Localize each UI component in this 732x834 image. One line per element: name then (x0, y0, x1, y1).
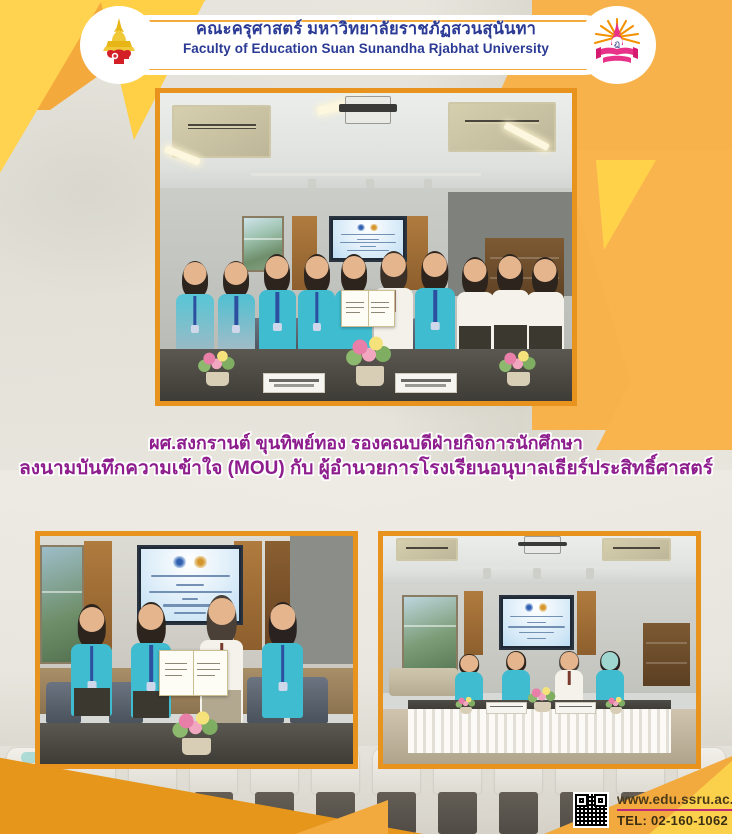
telephone-number: TEL: 02-160-1062 (617, 811, 732, 828)
header-text-block: คณะครุศาสตร์ มหาวิทยาลัยราชภัฏสวนสุนันทา… (136, 19, 596, 58)
header-title-thai: คณะครุศาสตร์ มหาวิทยาลัยราชภัฏสวนสุนันทา (136, 19, 596, 40)
caption-line-2: ลงนามบันทึกความเข้าใจ (MOU) กับ ผู้อำนวย… (19, 456, 713, 482)
header-title-english: Faculty of Education Suan Sunandha Rjabh… (136, 40, 596, 58)
photo-main (155, 88, 577, 406)
photo-bottom-right (378, 531, 701, 769)
qr-code-icon[interactable] (573, 792, 609, 828)
website-url[interactable]: www.edu.ssru.ac.th (617, 792, 732, 809)
footer-contact: www.edu.ssru.ac.th TEL: 02-160-1062 (573, 792, 732, 828)
poster-root: ฎ คณะครุศาสตร์ มหาวิทยาลัยราชภัฏสวนสุนัน… (0, 0, 732, 834)
photo-bottom-left (35, 531, 358, 769)
caption-block: ผศ.สงกรานต์ ขุนทิพย์ทอง รองคณบดีฝ่ายกิจก… (0, 420, 732, 492)
contact-text-block: www.edu.ssru.ac.th TEL: 02-160-1062 (617, 792, 732, 828)
svg-text:ฎ: ฎ (614, 39, 620, 49)
caption-line-1: ผศ.สงกรานต์ ขุนทิพย์ทอง รองคณบดีฝ่ายกิจก… (149, 430, 583, 456)
header-bar: ฎ คณะครุศาสตร์ มหาวิทยาลัยราชภัฏสวนสุนัน… (66, 6, 666, 84)
